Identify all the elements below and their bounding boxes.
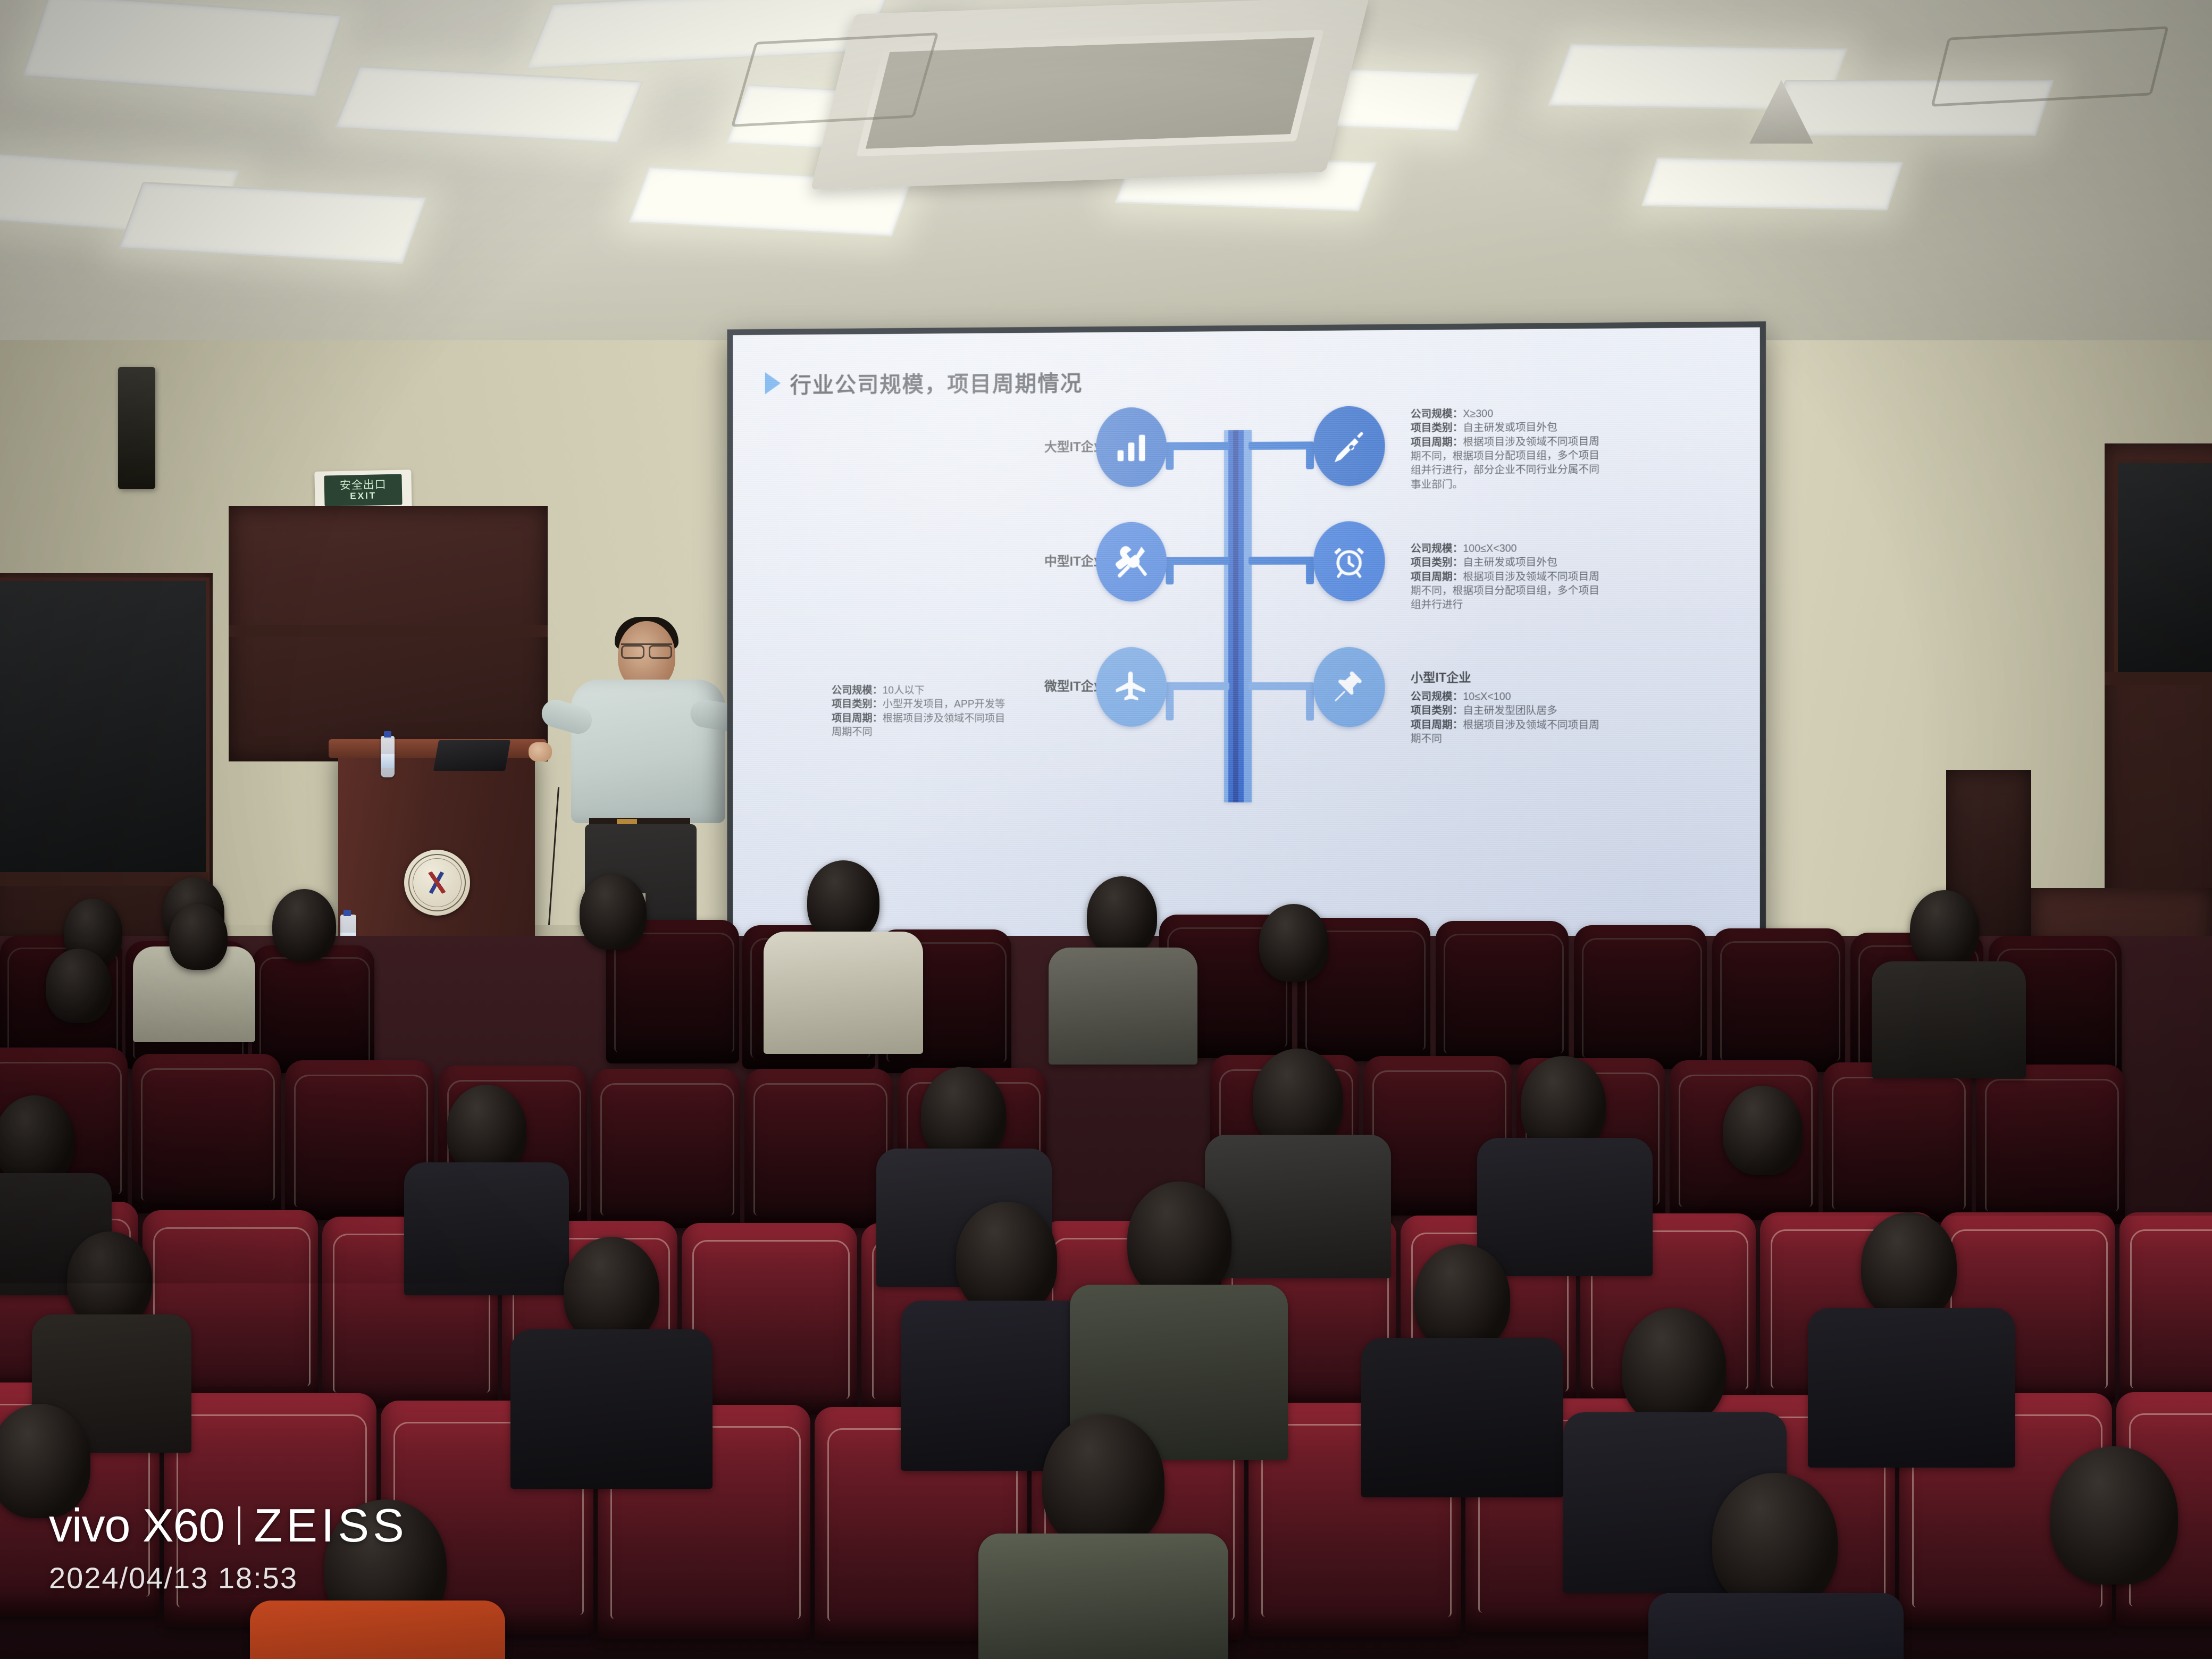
micro-category-label: 项目类别：: [832, 699, 883, 710]
seat: [1976, 1065, 2125, 1224]
branch-connector: [1249, 557, 1313, 565]
seat: [2119, 1212, 2212, 1404]
slide-title: 行业公司规模，项目周期情况: [790, 365, 1083, 399]
ceiling-light-panel: [1641, 157, 1903, 211]
large-cycle-label: 项目周期：: [1411, 437, 1463, 449]
attendee-body: [250, 1601, 505, 1659]
branch-connector: [1166, 557, 1229, 565]
tools-icon: [1096, 522, 1167, 601]
attendee-head: [67, 1231, 152, 1326]
medium-cycle-label: 项目周期：: [1411, 571, 1463, 583]
info-block-large: 公司规模：X≥300 项目类别：自主研发或项目外包 项目周期：根据项目涉及领域不…: [1411, 407, 1637, 492]
attendee-body: [510, 1329, 713, 1489]
large-scale-label: 公司规模：: [1411, 408, 1463, 421]
right-cabinet-shelf: [2105, 672, 2212, 685]
watermark-brand-vivo: vivo X60: [49, 1502, 224, 1549]
attendee-head: [956, 1202, 1057, 1314]
seat: [252, 945, 374, 1073]
slide-surface: 行业公司规模，项目周期情况 大型IT企业: [733, 328, 1760, 995]
branch-connector: [1249, 441, 1313, 450]
branch-connector: [1306, 682, 1314, 720]
attendee-head: [0, 1095, 74, 1185]
airplane-icon: [1096, 647, 1167, 727]
branch-connector: [1166, 442, 1229, 450]
attendee-body: [1648, 1593, 1904, 1659]
info-block-micro: 公司规模：10人以下 项目类别：小型开发项目，APP开发等 项目周期：根据项目涉…: [832, 684, 1073, 740]
microphone-cable: [548, 787, 559, 925]
attendee-head: [1910, 890, 1979, 968]
attendee-body: [1477, 1138, 1653, 1276]
large-cycle-value: 根据项目涉及领域不同项目周: [1463, 435, 1599, 448]
medium-category-label: 项目类别：: [1411, 557, 1463, 568]
ceiling-access-panel: [731, 32, 939, 127]
branch-connector: [1166, 557, 1174, 584]
stage-cabinet-shelf: [229, 625, 548, 637]
exit-sign: 安全出口 EXIT: [314, 470, 412, 511]
attendee-head: [1127, 1182, 1231, 1298]
small-cycle-value: 根据项目涉及领域不同项目周: [1463, 719, 1599, 731]
small-heading: 小型IT企业: [1411, 667, 1642, 685]
attendee-body: [798, 1585, 1042, 1659]
medium-cycle-line3: 组并行进行: [1411, 598, 1637, 612]
triangle-bullet-icon: [765, 372, 781, 395]
attendee-body: [764, 932, 923, 1054]
attendee-head: [1521, 1056, 1606, 1152]
small-cycle-line2: 期不同: [1411, 733, 1642, 747]
large-category-value: 自主研发或项目外包: [1463, 422, 1557, 434]
medium-category-value: 自主研发或项目外包: [1463, 557, 1557, 569]
photograph: 安全出口 EXIT: [0, 0, 2212, 1659]
attendee-head: [1622, 1308, 1726, 1425]
right-cabinet-glass: [2114, 459, 2212, 680]
branch-connector: [1166, 442, 1174, 470]
podium-emblem: [404, 850, 470, 916]
attendee-head: [46, 949, 112, 1023]
exit-sign-chinese: 安全出口: [340, 479, 387, 491]
projection-screen: 行业公司规模，项目周期情况 大型IT企业: [727, 321, 1766, 1000]
wall-speaker: [118, 367, 155, 489]
micro-cycle-value: 根据项目涉及领域不同项目: [883, 713, 1006, 724]
presenter-glasses: [621, 643, 672, 656]
attendee-body: [1808, 1308, 2015, 1468]
branch-connector: [1306, 441, 1314, 469]
large-cycle-line3: 组并行进行，部分企业不同行业分属不同: [1411, 463, 1637, 477]
attendee-body: [1205, 1135, 1391, 1278]
attendee-head: [564, 1237, 659, 1343]
attendee-head: [2050, 1446, 2178, 1585]
bar-chart-icon: [1096, 407, 1167, 487]
large-category-label: 项目类别：: [1411, 422, 1463, 434]
left-cabinet-glass: [0, 577, 210, 883]
attendee-head: [1259, 904, 1328, 982]
branch-connector: [1306, 557, 1314, 584]
seat: [1823, 1062, 1972, 1222]
alarm-clock-icon: [1313, 521, 1385, 601]
micro-scale-label: 公司规模：: [832, 685, 883, 697]
medium-cycle-value: 根据项目涉及领域不同项目周: [1463, 571, 1599, 583]
watermark-brand-zeiss: ZEISS: [254, 1502, 408, 1549]
attendee-head: [1414, 1244, 1510, 1351]
pen-nib-icon: [1313, 406, 1385, 486]
branch-connector: [1166, 682, 1174, 720]
attendee-head: [1042, 1414, 1164, 1548]
seat: [1574, 925, 1707, 1069]
large-cycle-line4: 事业部门。: [1411, 477, 1637, 492]
small-category-label: 项目类别：: [1411, 705, 1463, 717]
large-cycle-line2: 期不同，根据项目分配项目组，多个项目: [1411, 449, 1637, 464]
small-scale-label: 公司规模：: [1411, 691, 1463, 702]
branch-connector: [1249, 682, 1313, 690]
micro-cycle-line2: 周期不同: [832, 726, 1073, 740]
large-scale-value: X≥300: [1463, 408, 1493, 420]
attendee-head: [1861, 1212, 1957, 1319]
laptop: [433, 740, 510, 771]
attendee-head: [1723, 1086, 1803, 1175]
watermark-datetime: 2024/04/13 18:53: [49, 1561, 408, 1595]
micro-category-value: 小型开发项目，APP开发等: [883, 699, 1006, 710]
attendee-head: [1087, 876, 1157, 955]
tree-trunk: [1224, 430, 1252, 802]
camera-watermark: vivo X60 ZEISS 2024/04/13 18:53: [49, 1502, 408, 1595]
ceiling-access-panel: [1931, 26, 2169, 106]
attendee-head: [447, 1085, 526, 1174]
presenter-left-hand: [529, 742, 552, 761]
medium-scale-label: 公司规模：: [1411, 543, 1463, 555]
medium-scale-value: 100≤X<300: [1463, 543, 1516, 555]
attendee-head: [807, 860, 879, 941]
small-category-value: 自主研发型团队居多: [1463, 705, 1557, 717]
pushpin-icon: [1313, 647, 1385, 727]
attendee-head: [580, 874, 647, 950]
watermark-separator: [238, 1506, 240, 1545]
attendee-head: [1712, 1473, 1838, 1609]
attendee-body: [1361, 1338, 1563, 1497]
branch-connector: [1166, 682, 1229, 690]
small-scale-value: 10≤X<100: [1463, 691, 1511, 702]
seat: [744, 1069, 893, 1228]
attendee-body: [1872, 961, 2026, 1078]
seat: [591, 1069, 740, 1228]
seat: [132, 1054, 281, 1213]
seat: [1712, 928, 1845, 1072]
micro-scale-value: 10人以下: [883, 685, 925, 697]
micro-cycle-label: 项目周期：: [832, 713, 883, 724]
medium-cycle-line2: 期不同，根据项目分配项目组，多个项目: [1411, 584, 1637, 598]
info-block-medium: 公司规模：100≤X<300 项目类别：自主研发或项目外包 项目周期：根据项目涉…: [1411, 542, 1637, 613]
attendee-body: [1049, 948, 1197, 1065]
attendee-head: [272, 889, 336, 961]
attendee-head: [169, 904, 228, 970]
info-block-small: 小型IT企业 公司规模：10≤X<100 项目类别：自主研发型团队居多 项目周期…: [1411, 667, 1642, 747]
attendee-head: [921, 1067, 1006, 1161]
seat: [1436, 921, 1569, 1065]
slide-title-row: 行业公司规模，项目周期情况: [765, 365, 1083, 399]
attendee-body: [404, 1162, 569, 1295]
small-cycle-label: 项目周期：: [1411, 719, 1463, 731]
attendee-head: [861, 1468, 984, 1601]
exit-sign-english: EXIT: [350, 490, 376, 501]
water-bottle: [381, 736, 395, 777]
